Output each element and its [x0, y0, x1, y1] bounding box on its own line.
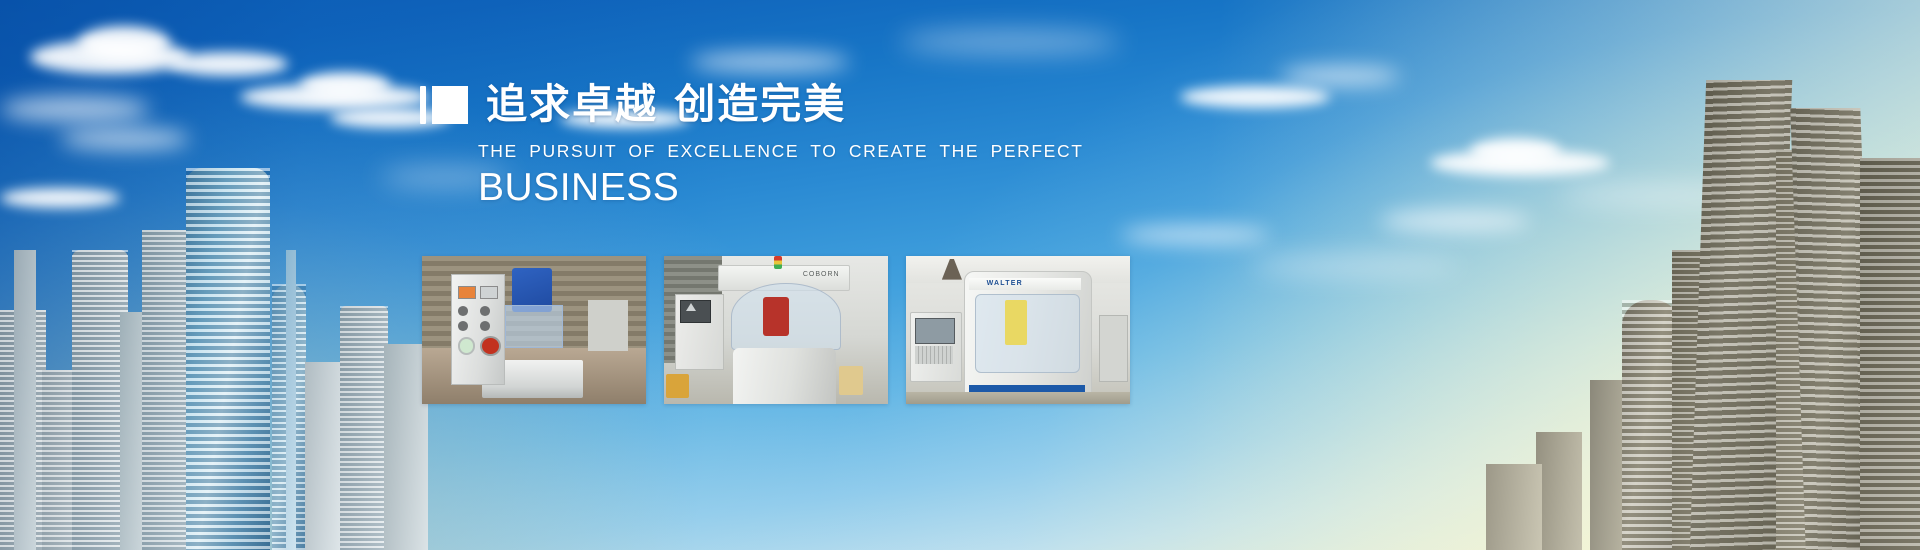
photo-3-brand-label: WALTER [987, 280, 1023, 287]
photo-surface-grinder[interactable] [422, 256, 646, 404]
subtitle-english: THE PURSUIT OF EXCELLENCE TO CREATE THE … [478, 141, 1140, 162]
hero-banner: 追求卓越 创造完美 THE PURSUIT OF EXCELLENCE TO C… [0, 0, 1920, 550]
left-city-skyline [0, 160, 430, 550]
photo-2-scene: COBORN [664, 256, 888, 404]
photo-1-scene [422, 256, 646, 404]
bar-square-logo-icon [420, 86, 468, 124]
photo-2-brand-label: COBORN [803, 271, 840, 278]
signal-tower-light-icon [774, 256, 782, 269]
logo-bar-shape [420, 86, 426, 124]
logo-square-shape [432, 86, 468, 124]
product-photo-strip: COBORN WALTER [422, 256, 1130, 404]
photo-walter-grinder[interactable]: WALTER [906, 256, 1130, 404]
business-word: BUSINESS [478, 168, 1140, 209]
headline-chinese: 追求卓越 创造完美 [486, 84, 846, 125]
photo-coborn-grinder[interactable]: COBORN [664, 256, 888, 404]
banner-copy: 追求卓越 创造完美 THE PURSUIT OF EXCELLENCE TO C… [420, 84, 1140, 209]
right-city-skyline [1360, 80, 1920, 550]
headline-row: 追求卓越 创造完美 [420, 84, 1140, 125]
photo-3-scene: WALTER [906, 256, 1130, 404]
